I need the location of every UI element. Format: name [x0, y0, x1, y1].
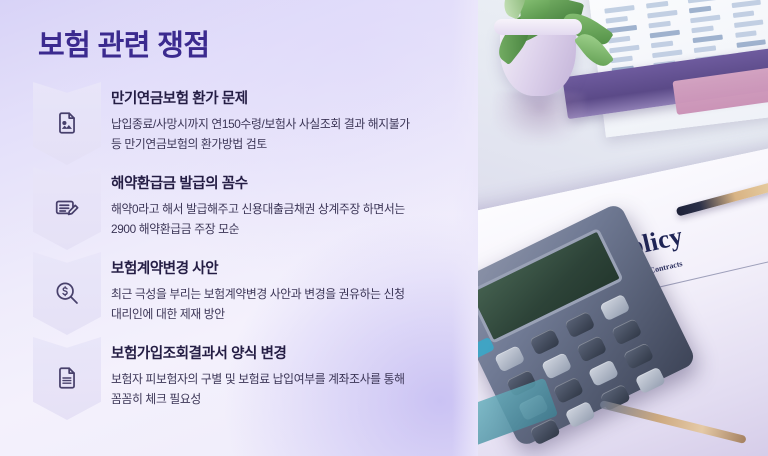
- slide-root: 보험 관련 쟁점 만기연금보험 환가 문제 납입: [0, 0, 768, 456]
- issue-title: 만기연금보험 환가 문제: [111, 91, 478, 108]
- issue-description: 보험자 피보험자의 구별 및 보험료 납입여부를 계좌조사를 통해 꼼꼼히 체크…: [111, 370, 411, 408]
- search-money-icon: [54, 280, 80, 306]
- issue-badge-3: [33, 252, 101, 335]
- content-panel: 보험 관련 쟁점 만기연금보험 환가 문제 납입: [0, 0, 478, 456]
- pot-shadow: [494, 92, 586, 144]
- issue-texts-1: 만기연금보험 환가 문제 납입종료/사망시까지 연150수령/보험사 사실조회 …: [101, 82, 478, 154]
- note-edit-icon: [54, 195, 80, 221]
- document-image-icon: [54, 110, 80, 136]
- list-item[interactable]: 보험계약변경 사안 최근 극성을 부리는 보험계약변경 사안과 변경을 권유하는…: [0, 252, 478, 337]
- issue-description: 최근 극성을 부리는 보험계약변경 사안과 변경을 권유하는 신청대리인에 대한…: [111, 285, 411, 323]
- page-title: 보험 관련 쟁점: [38, 22, 209, 64]
- list-item[interactable]: 만기연금보험 환가 문제 납입종료/사망시까지 연150수령/보험사 사실조회 …: [0, 82, 478, 167]
- issue-description: 납입종료/사망시까지 연150수령/보험사 사실조회 결과 해지불가 등 만기연…: [111, 115, 411, 153]
- photo-scene: Insurance Policy Korean Insurance, Polic…: [478, 0, 768, 456]
- list-item[interactable]: 해약환급금 발급의 꼼수 해약0라고 해서 발급해주고 신용대출금채권 상계주장…: [0, 167, 478, 252]
- issue-texts-2: 해약환급금 발급의 꼼수 해약0라고 해서 발급해주고 신용대출금채권 상계주장…: [101, 167, 478, 239]
- issue-description: 해약0라고 해서 발급해주고 신용대출금채권 상계주장 하면서는 2900 해약…: [111, 200, 411, 238]
- issue-texts-3: 보험계약변경 사안 최근 극성을 부리는 보험계약변경 사안과 변경을 권유하는…: [101, 252, 478, 324]
- issue-title: 해약환급금 발급의 꼼수: [111, 176, 478, 193]
- issue-title: 보험가입조회결과서 양식 변경: [111, 346, 478, 363]
- list-item[interactable]: 보험가입조회결과서 양식 변경 보험자 피보험자의 구별 및 보험료 납입여부를…: [0, 337, 478, 422]
- issue-texts-4: 보험가입조회결과서 양식 변경 보험자 피보험자의 구별 및 보험료 납입여부를…: [101, 337, 478, 409]
- issue-badge-2: [33, 167, 101, 250]
- document-lines-icon: [54, 365, 80, 391]
- issue-badge-4: [33, 337, 101, 420]
- issue-title: 보험계약변경 사안: [111, 261, 478, 278]
- issue-badge-1: [33, 82, 101, 165]
- issue-list: 만기연금보험 환가 문제 납입종료/사망시까지 연150수령/보험사 사실조회 …: [0, 82, 478, 422]
- insurance-policy-photo: Insurance Policy Korean Insurance, Polic…: [478, 0, 768, 456]
